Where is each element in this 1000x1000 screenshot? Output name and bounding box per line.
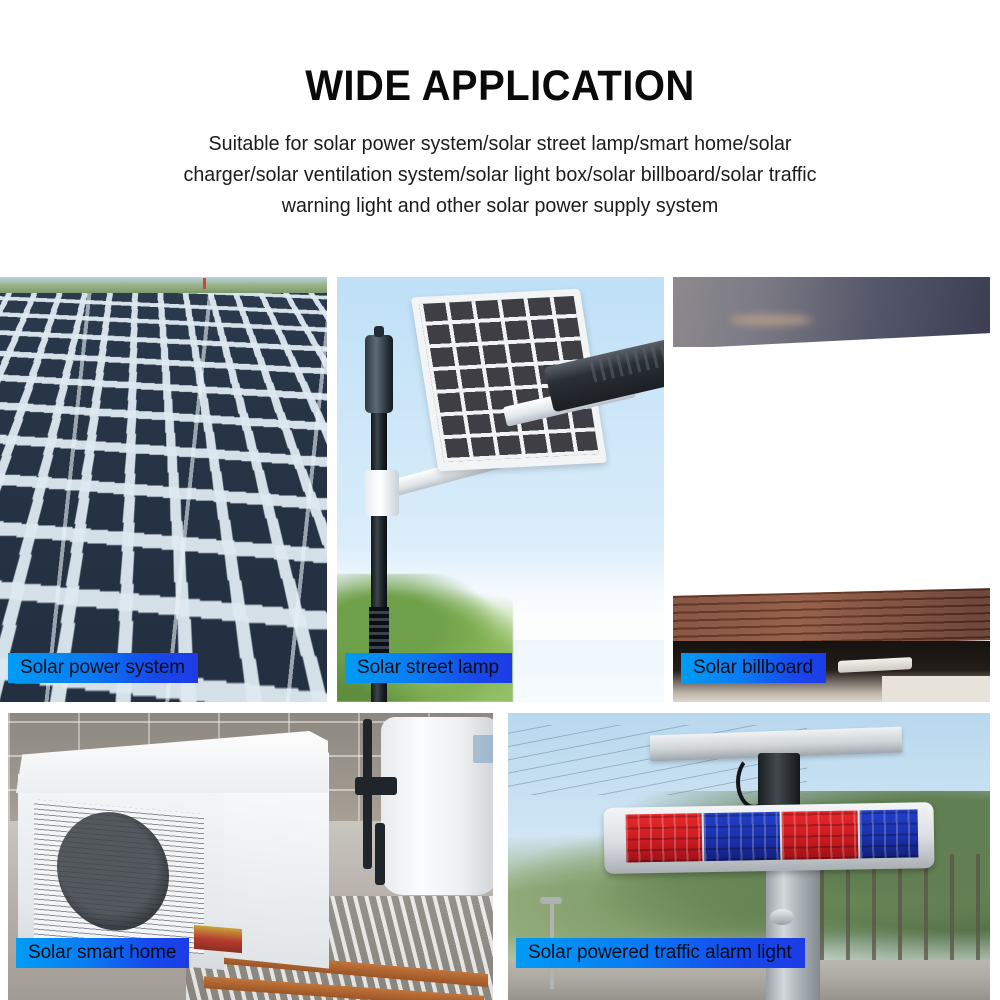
pipe-valve (355, 777, 397, 795)
gallery-tile-solar-street-lamp[interactable]: Solar street lamp (337, 277, 664, 702)
heat-pump-unit (16, 731, 328, 963)
unit-top-panel (16, 731, 328, 793)
photo-solar-street-lamp (337, 277, 664, 702)
corrugated-steel-frame (673, 588, 990, 648)
panel-mount-bracket (758, 753, 800, 811)
page-title: WIDE APPLICATION (35, 62, 965, 111)
caption-solar-power-system: Solar power system (8, 653, 198, 683)
tank-label (473, 735, 493, 763)
photo-solar-billboard (673, 277, 990, 702)
pole-clamp (365, 470, 399, 516)
caption-solar-billboard: Solar billboard (681, 653, 826, 683)
gallery-tile-solar-power-system[interactable]: Solar power system (0, 277, 327, 702)
caption-solar-smart-home: Solar smart home (16, 938, 189, 968)
pole-rings (369, 607, 389, 657)
solar-farm-column-gaps (0, 291, 327, 702)
billboard-face (673, 347, 990, 592)
horizon-strip (0, 277, 327, 293)
page-subtitle: Suitable for solar power system/solar st… (164, 128, 836, 221)
led-lens-red-left (626, 813, 703, 862)
caption-solar-powered-traffic-alarm-light: Solar powered traffic alarm light (516, 938, 805, 968)
dusk-sky-band (673, 277, 990, 349)
caption-solar-street-lamp: Solar street lamp (345, 653, 512, 683)
gallery-tile-solar-smart-home[interactable]: Solar smart home (8, 713, 493, 1000)
led-lens-blue-right (860, 809, 919, 858)
pipework (355, 719, 397, 891)
header: WIDE APPLICATION Suitable for solar powe… (0, 0, 1000, 265)
led-lens-red-right (782, 810, 859, 859)
ground-highlight (882, 676, 990, 702)
pole-sensor-housing (365, 335, 393, 413)
gallery-tile-solar-powered-traffic-alarm-light[interactable]: Solar powered traffic alarm light (508, 713, 990, 1000)
pipe-elbow (375, 823, 385, 885)
gallery-tile-solar-billboard[interactable]: Solar billboard (673, 277, 990, 702)
led-lens-blue-left (704, 812, 781, 861)
water-tank (381, 717, 493, 895)
mast-sensor (770, 909, 794, 925)
unit-warning-label (194, 925, 242, 953)
photo-solar-power-system (0, 277, 327, 702)
warning-light-bar (603, 802, 934, 874)
